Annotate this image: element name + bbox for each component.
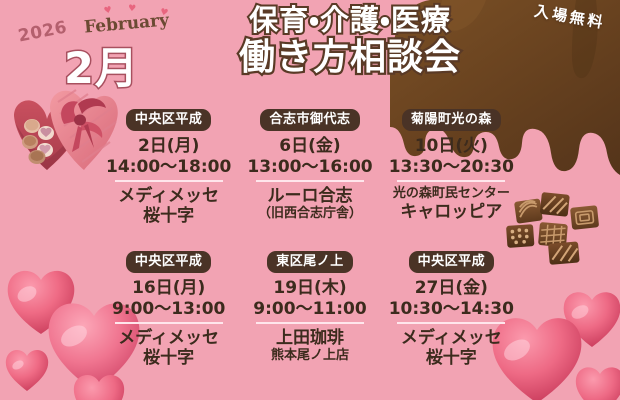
month-japanese-label: 2月 [64, 34, 139, 96]
date-corner: ♥ ♥ ♥ 2026 February 2月 [8, 4, 188, 96]
area-badge: 菊陽町光の森 [402, 109, 501, 131]
event-day: 2日(月) [100, 137, 237, 157]
schedule-card[interactable]: 菊陽町光の森 10日(火) 13:30〜20:30 光の森町民センター キャロッ… [383, 108, 520, 244]
event-venue: メディメッセ [100, 186, 237, 206]
area-badge: 中央区平成 [126, 109, 212, 131]
title-line-2: 働き方相談会 [190, 38, 510, 78]
event-venue-line2: 桜十字 [100, 348, 237, 368]
card-divider [256, 180, 364, 182]
event-day: 27日(金) [383, 279, 520, 299]
card-divider [397, 180, 505, 182]
schedule-card[interactable]: 中央区平成 16日(月) 9:00〜13:00 メディメッセ 桜十字 [100, 250, 237, 386]
event-time: 9:00〜13:00 [100, 299, 237, 319]
area-badge: 合志市御代志 [260, 109, 359, 131]
event-day: 10日(火) [383, 137, 520, 157]
schedule-card[interactable]: 中央区平成 2日(月) 14:00〜18:00 メディメッセ 桜十字 [100, 108, 237, 244]
schedule-card[interactable]: 合志市御代志 6日(金) 13:00〜16:00 ルーロ合志 （旧西合志庁舎） [241, 108, 378, 244]
event-time: 9:00〜11:00 [241, 299, 378, 319]
event-time: 10:30〜14:30 [383, 299, 520, 319]
event-venue-line2: 桜十字 [100, 206, 237, 226]
title-line-1: 保育・介護・医療 [190, 4, 510, 36]
year-label: 2026 [17, 17, 69, 46]
event-venue: ルーロ合志 [241, 186, 378, 206]
event-time: 14:00〜18:00 [100, 157, 237, 177]
page-title: 保育・介護・医療 働き方相談会 [190, 4, 510, 79]
poster-canvas: ♥ ♥ ♥ 2026 February 2月 保育・介護・医療 働き方相談会 入… [0, 0, 620, 400]
event-venue-line2: 桜十字 [383, 348, 520, 368]
card-divider [397, 322, 505, 324]
event-venue: メディメッセ [100, 328, 237, 348]
area-badge: 中央区平成 [409, 251, 495, 273]
schedule-grid: 中央区平成 2日(月) 14:00〜18:00 メディメッセ 桜十字 合志市御代… [100, 108, 520, 386]
event-venue: 上田珈琲 [241, 328, 378, 348]
schedule-card[interactable]: 東区尾ノ上 19日(木) 9:00〜11:00 上田珈琲 熊本尾ノ上店 [241, 250, 378, 386]
card-divider [115, 322, 223, 324]
event-venue: メディメッセ [383, 328, 520, 348]
card-divider [115, 180, 223, 182]
event-day: 6日(金) [241, 137, 378, 157]
event-venue-sub: 熊本尾ノ上店 [241, 348, 378, 364]
area-badge: 東区尾ノ上 [267, 251, 353, 273]
free-admission-label: 入場無料 [533, 0, 608, 33]
event-venue-sub: （旧西合志庁舎） [241, 206, 378, 222]
event-time: 13:00〜16:00 [241, 157, 378, 177]
schedule-card[interactable]: 中央区平成 27日(金) 10:30〜14:30 メディメッセ 桜十字 [383, 250, 520, 386]
event-venue-line2: キャロッピア [383, 202, 520, 222]
event-time: 13:30〜20:30 [383, 157, 520, 177]
card-divider [256, 322, 364, 324]
area-badge: 中央区平成 [126, 251, 212, 273]
event-venue: 光の森町民センター [383, 186, 520, 202]
event-day: 19日(木) [241, 279, 378, 299]
event-day: 16日(月) [100, 279, 237, 299]
